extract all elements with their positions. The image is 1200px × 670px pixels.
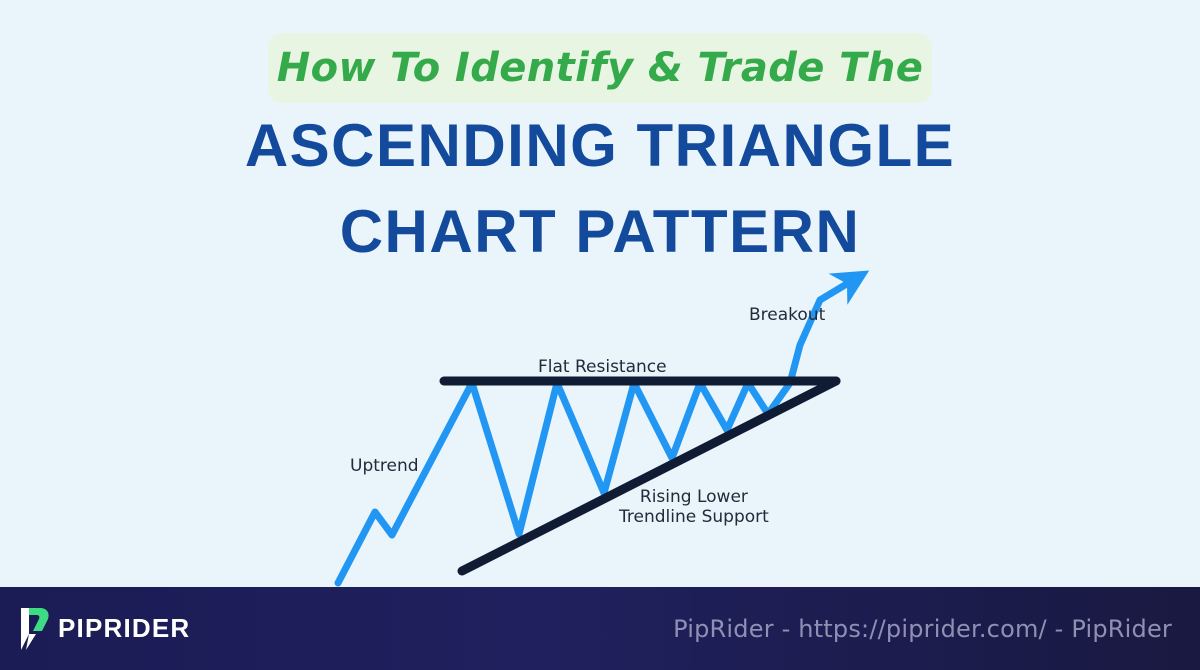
annotation-rising-support-line-2: Trendline Support — [619, 507, 769, 527]
price-action-line — [338, 282, 850, 583]
annotation-rising-support-line-1: Rising Lower — [619, 487, 769, 507]
annotation-uptrend: Uptrend — [350, 456, 419, 476]
brand-logo: PIPRIDER — [16, 606, 190, 652]
page-title-line-1: ASCENDING TRIANGLE — [0, 114, 1200, 178]
annotation-rising-support: Rising Lower Trendline Support — [619, 487, 769, 527]
eyebrow-text: How To Identify & Trade The — [277, 48, 924, 88]
page-title-line-2: CHART PATTERN — [0, 200, 1200, 264]
annotation-breakout: Breakout — [749, 305, 825, 325]
eyebrow-highlight-box: How To Identify & Trade The — [268, 33, 932, 103]
piprider-logo-icon — [16, 606, 50, 652]
footer-bar: PIPRIDER PipRider - https://piprider.com… — [0, 587, 1200, 670]
ascending-triangle-chart — [0, 260, 1200, 590]
brand-name-text: PIPRIDER — [58, 613, 190, 644]
annotation-flat-resistance: Flat Resistance — [538, 357, 667, 377]
poster-canvas: How To Identify & Trade The ASCENDING TR… — [0, 0, 1200, 670]
footer-url-text: PipRider - https://piprider.com/ - PipRi… — [673, 615, 1172, 643]
